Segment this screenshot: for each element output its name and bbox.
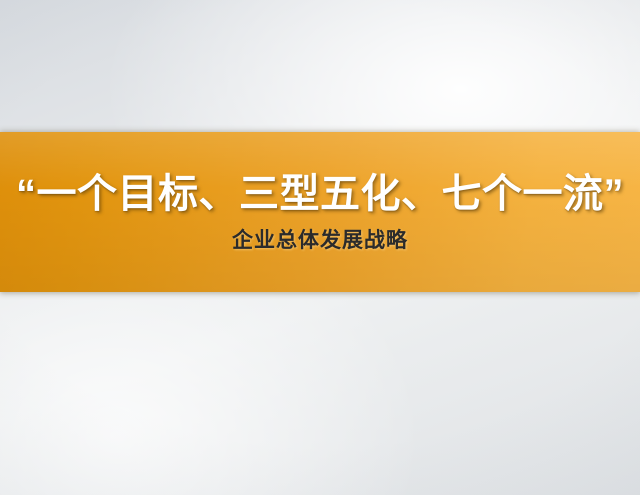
slide-subtitle: 企业总体发展战略 — [232, 230, 408, 251]
title-banner: “一个目标、三型五化、七个一流” 企业总体发展战略 — [0, 132, 640, 292]
presentation-slide: “一个目标、三型五化、七个一流” 企业总体发展战略 — [0, 0, 640, 495]
slide-title: “一个目标、三型五化、七个一流” — [16, 174, 624, 214]
